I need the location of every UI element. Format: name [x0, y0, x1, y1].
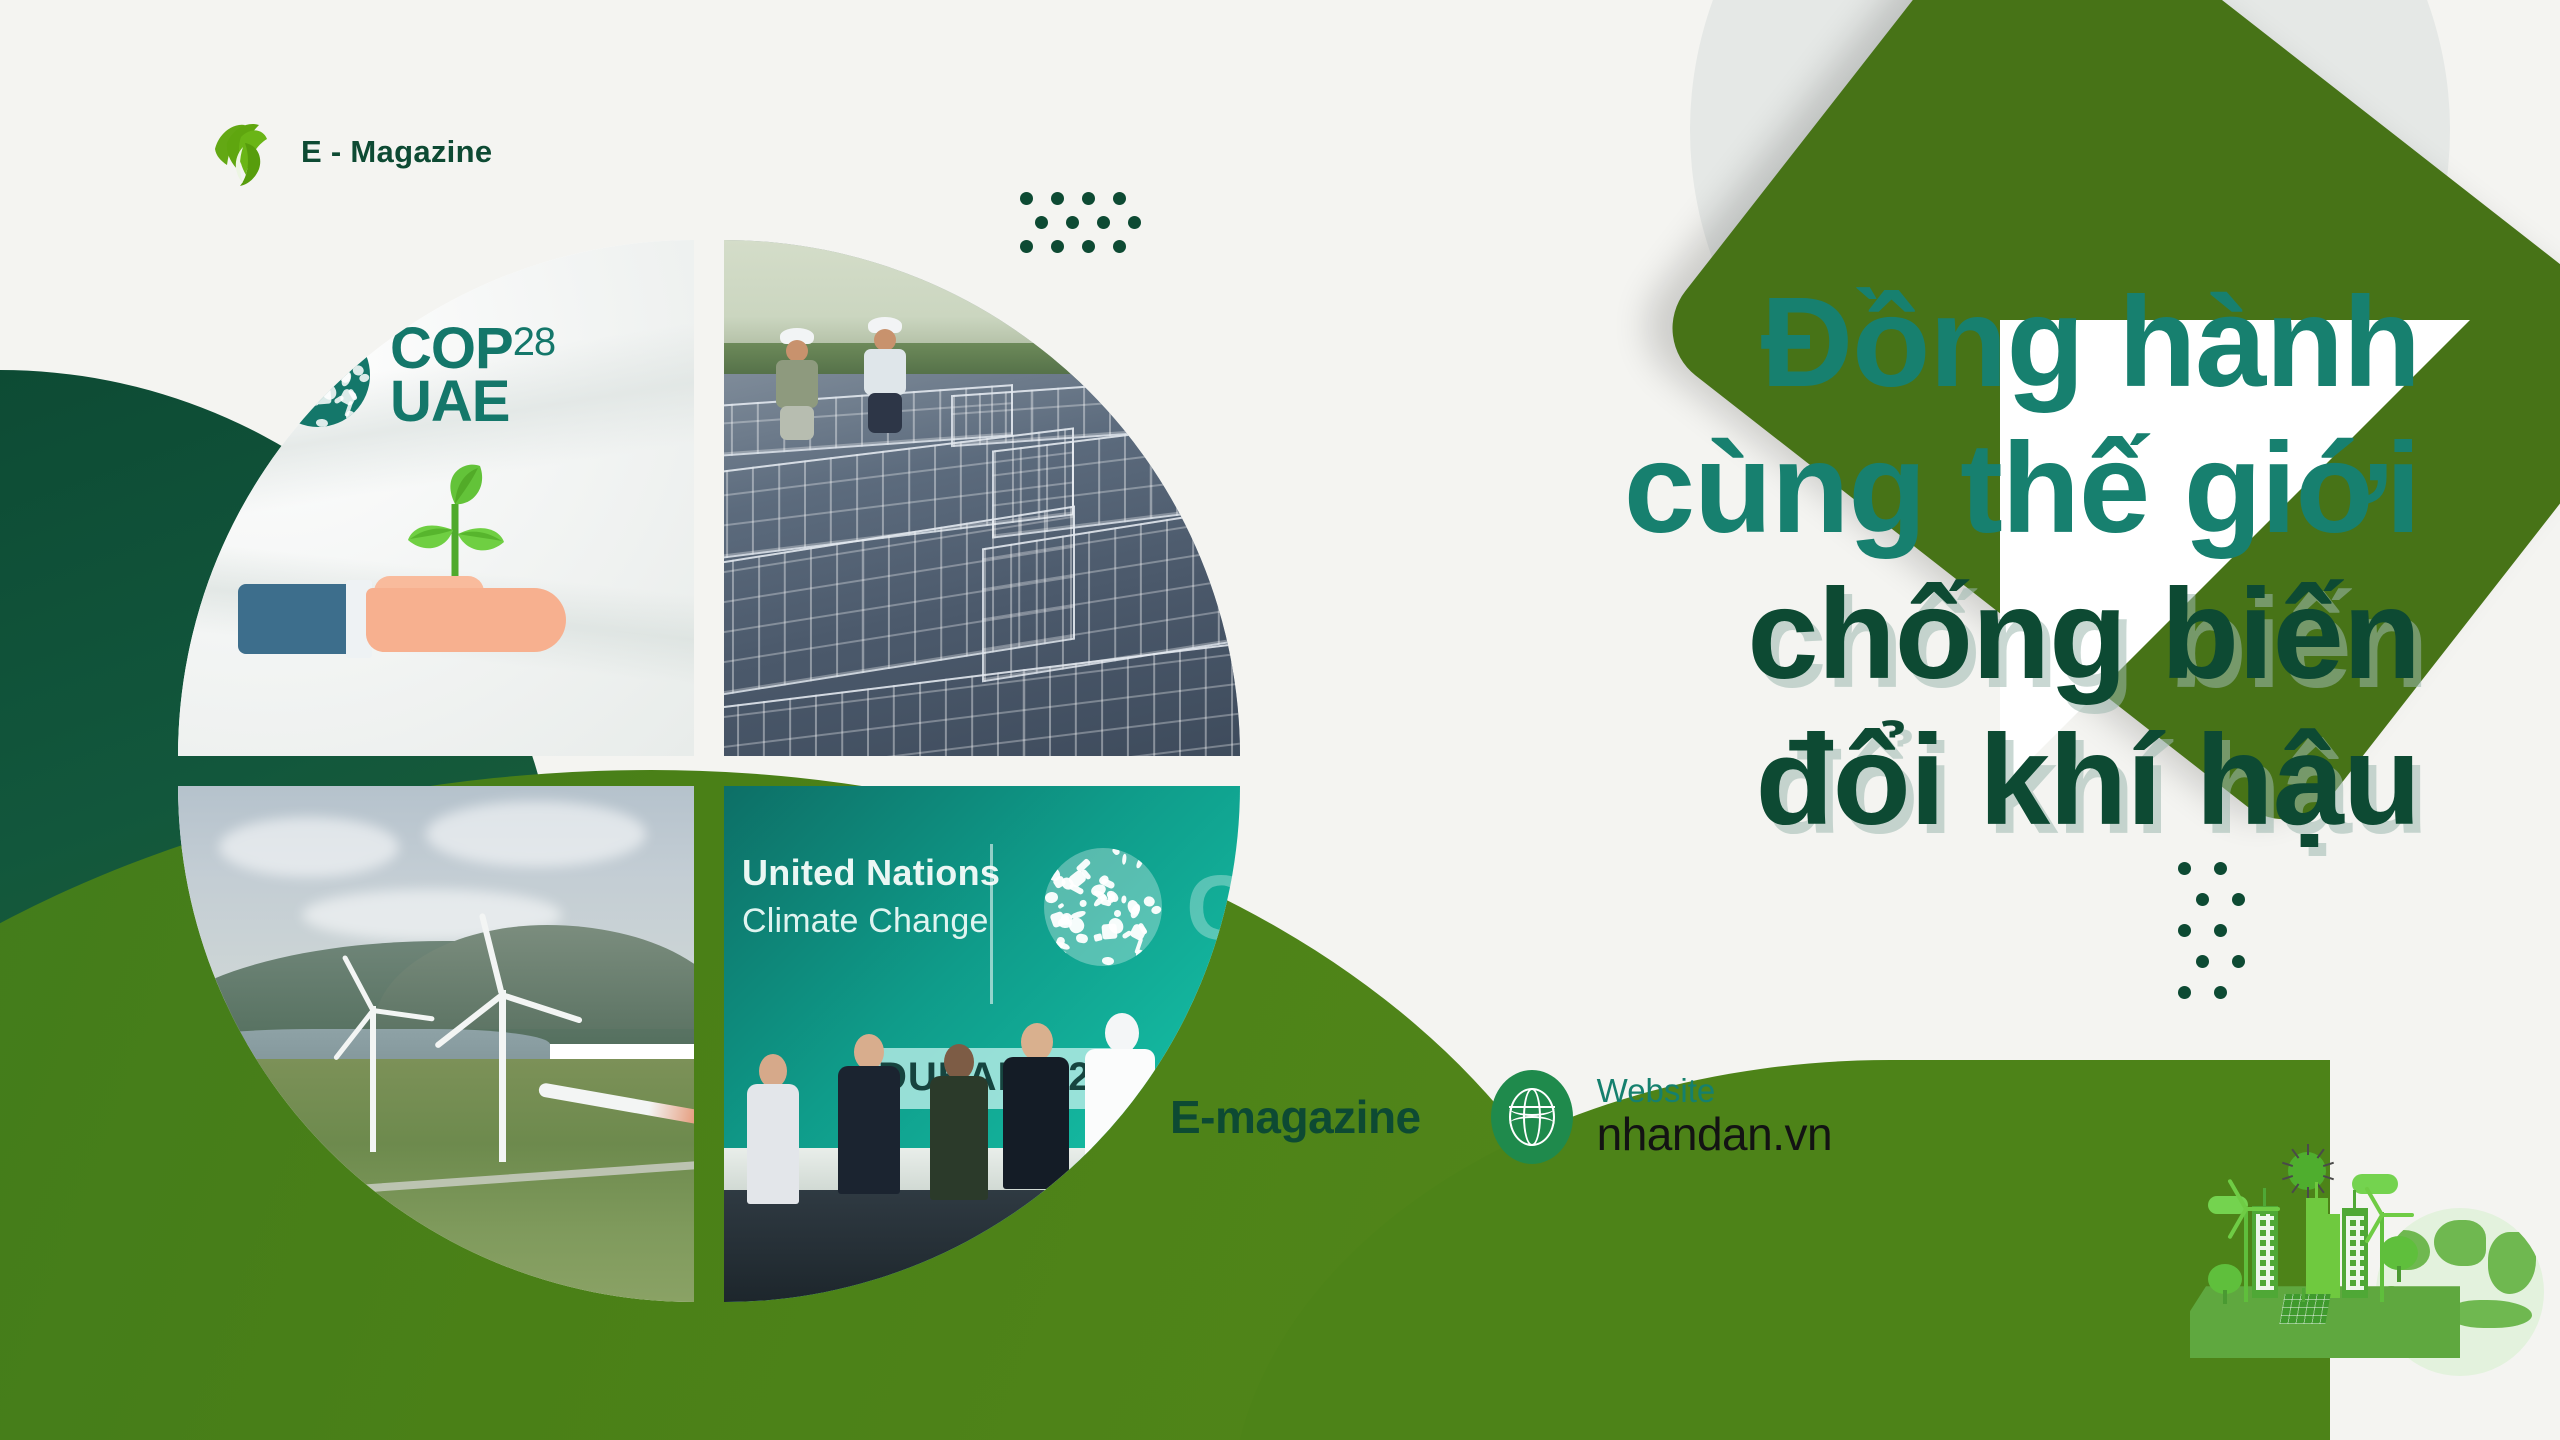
cloud-icon — [2352, 1174, 2398, 1194]
website-link[interactable]: Website nhandan.vn — [1491, 1070, 1832, 1164]
emblem-motif — [1057, 851, 1070, 865]
dot — [1066, 216, 1079, 229]
dot — [2214, 862, 2227, 875]
emblem-motif — [358, 373, 370, 384]
building-spire — [2315, 1182, 2318, 1200]
tree-icon — [2378, 1236, 2420, 1282]
wind-turbine — [457, 972, 547, 1162]
emblem-motif — [1122, 930, 1134, 940]
emagazine-label: E-magazine — [1170, 1090, 1421, 1144]
worker-figure — [770, 328, 828, 440]
emblem-motif — [1101, 956, 1113, 965]
emblem-motif — [1044, 890, 1059, 903]
emblem-motif — [358, 411, 370, 425]
collage-quadrant-wind-photo[interactable] — [178, 786, 694, 1302]
cop28-emblem-icon — [1044, 848, 1162, 966]
emblem-motif — [334, 328, 340, 339]
wind-turbine — [539, 1054, 694, 1204]
emblem-motif — [277, 371, 284, 377]
emblem-motif — [1101, 924, 1117, 940]
emblem-motif — [1045, 856, 1055, 864]
emblem-motif — [297, 369, 304, 376]
emblem-motif — [266, 360, 281, 373]
emblem-motif — [277, 326, 290, 340]
un-banner-line1: United Nations — [742, 852, 1000, 894]
dot — [1051, 192, 1064, 205]
emblem-motif — [1122, 854, 1128, 865]
dot — [2214, 924, 2227, 937]
hand-icon — [238, 570, 568, 662]
sun-ray — [2291, 1183, 2299, 1193]
un-banner-line2: Climate Change — [742, 902, 1000, 941]
emblem-motif — [1121, 896, 1127, 904]
website-url: nhandan.vn — [1597, 1109, 1832, 1161]
sprout-icon — [370, 458, 540, 588]
leaf-cluster-logo-icon — [205, 115, 279, 189]
building — [2322, 1214, 2340, 1298]
emblem-motif — [272, 412, 287, 427]
dot — [2232, 955, 2245, 968]
collage-quadrant-cop28-stage-photo[interactable]: United Nations Climate Change COP DUBAI … — [724, 786, 1240, 1302]
dot — [2178, 924, 2191, 937]
brand-name: E - Magazine — [301, 134, 492, 170]
dot — [1113, 192, 1126, 205]
dot-grid-pattern-right — [2178, 862, 2268, 1002]
dot — [1035, 216, 1048, 229]
emblem-motif — [315, 389, 331, 405]
emblem-motif — [1114, 909, 1122, 917]
emblem-motif — [1135, 856, 1145, 869]
sun-ray — [2307, 1144, 2309, 1155]
delegate-figure — [1003, 1023, 1069, 1189]
emblem-motif — [1075, 933, 1089, 944]
emblem-motif — [1057, 903, 1064, 909]
wind-farm-photo — [178, 786, 694, 1302]
delegate-figure — [745, 1054, 801, 1204]
delegate-figure — [1085, 1013, 1155, 1185]
green-eco-city-earth-icon — [2190, 1130, 2550, 1410]
dot — [2196, 893, 2209, 906]
banner-cop-text: COP — [1186, 856, 1240, 961]
page-title: Đồng hành cùng thế giới chống biến đổi k… — [1120, 270, 2420, 854]
worker-figure — [858, 317, 916, 433]
emblem-motif — [316, 418, 328, 427]
dot — [1082, 192, 1095, 205]
emblem-motif — [1150, 905, 1162, 916]
delegate-figure — [930, 1044, 988, 1200]
emblem-motif — [1080, 900, 1087, 907]
sun-ray — [2307, 1187, 2309, 1198]
dot — [2196, 955, 2209, 968]
cop-text: COP — [390, 322, 513, 375]
dot — [2214, 986, 2227, 999]
cop-number: 28 — [513, 324, 556, 361]
emblem-motif — [324, 323, 334, 331]
collage-quadrant-cop28-card[interactable]: COP28 UAE — [178, 240, 694, 756]
cop28-stage-photo: United Nations Climate Change COP DUBAI … — [724, 786, 1240, 1302]
sun-ray — [2323, 1162, 2334, 1167]
building-spire — [2353, 1190, 2356, 1210]
poster-canvas: E - Magazine COP28 UAE — [0, 0, 2560, 1440]
wind-turbine — [338, 992, 408, 1152]
website-label: Website — [1597, 1073, 1832, 1109]
dot — [1128, 216, 1141, 229]
dot — [2232, 893, 2245, 906]
sun-icon — [2288, 1152, 2326, 1190]
audience-crowd — [724, 1190, 1240, 1302]
headline-line-4: đổi khí hậu — [1120, 708, 2420, 854]
emblem-motif — [332, 353, 338, 361]
footer-bar: E-magazine Website nhandan.vn — [1170, 1070, 1832, 1164]
tree-icon — [2206, 1264, 2244, 1304]
headline-line-2: cùng thế giới — [1120, 416, 2420, 562]
headline-line-1: Đồng hành — [1120, 270, 2420, 416]
cop-country: UAE — [390, 375, 555, 428]
brand-logo[interactable]: E - Magazine — [205, 115, 492, 189]
photo-collage: COP28 UAE — [178, 240, 1240, 1312]
headline-line-3: chống biến — [1120, 562, 2420, 708]
dot — [2178, 862, 2191, 875]
emblem-motif — [267, 331, 277, 339]
banner-divider — [990, 844, 993, 1004]
delegate-figure — [838, 1034, 900, 1194]
dot — [1020, 192, 1033, 205]
solar-panel-icon — [2279, 1294, 2330, 1324]
cop28-logo: COP28 UAE — [266, 322, 555, 429]
emblem-motif — [325, 372, 337, 386]
sun-ray — [2323, 1175, 2334, 1180]
emblem-motif — [345, 330, 355, 343]
cop28-emblem-icon — [266, 323, 370, 427]
globe-icon — [1491, 1070, 1573, 1164]
dot — [1097, 216, 1110, 229]
dot — [2178, 986, 2191, 999]
emblem-motif — [1051, 951, 1066, 966]
